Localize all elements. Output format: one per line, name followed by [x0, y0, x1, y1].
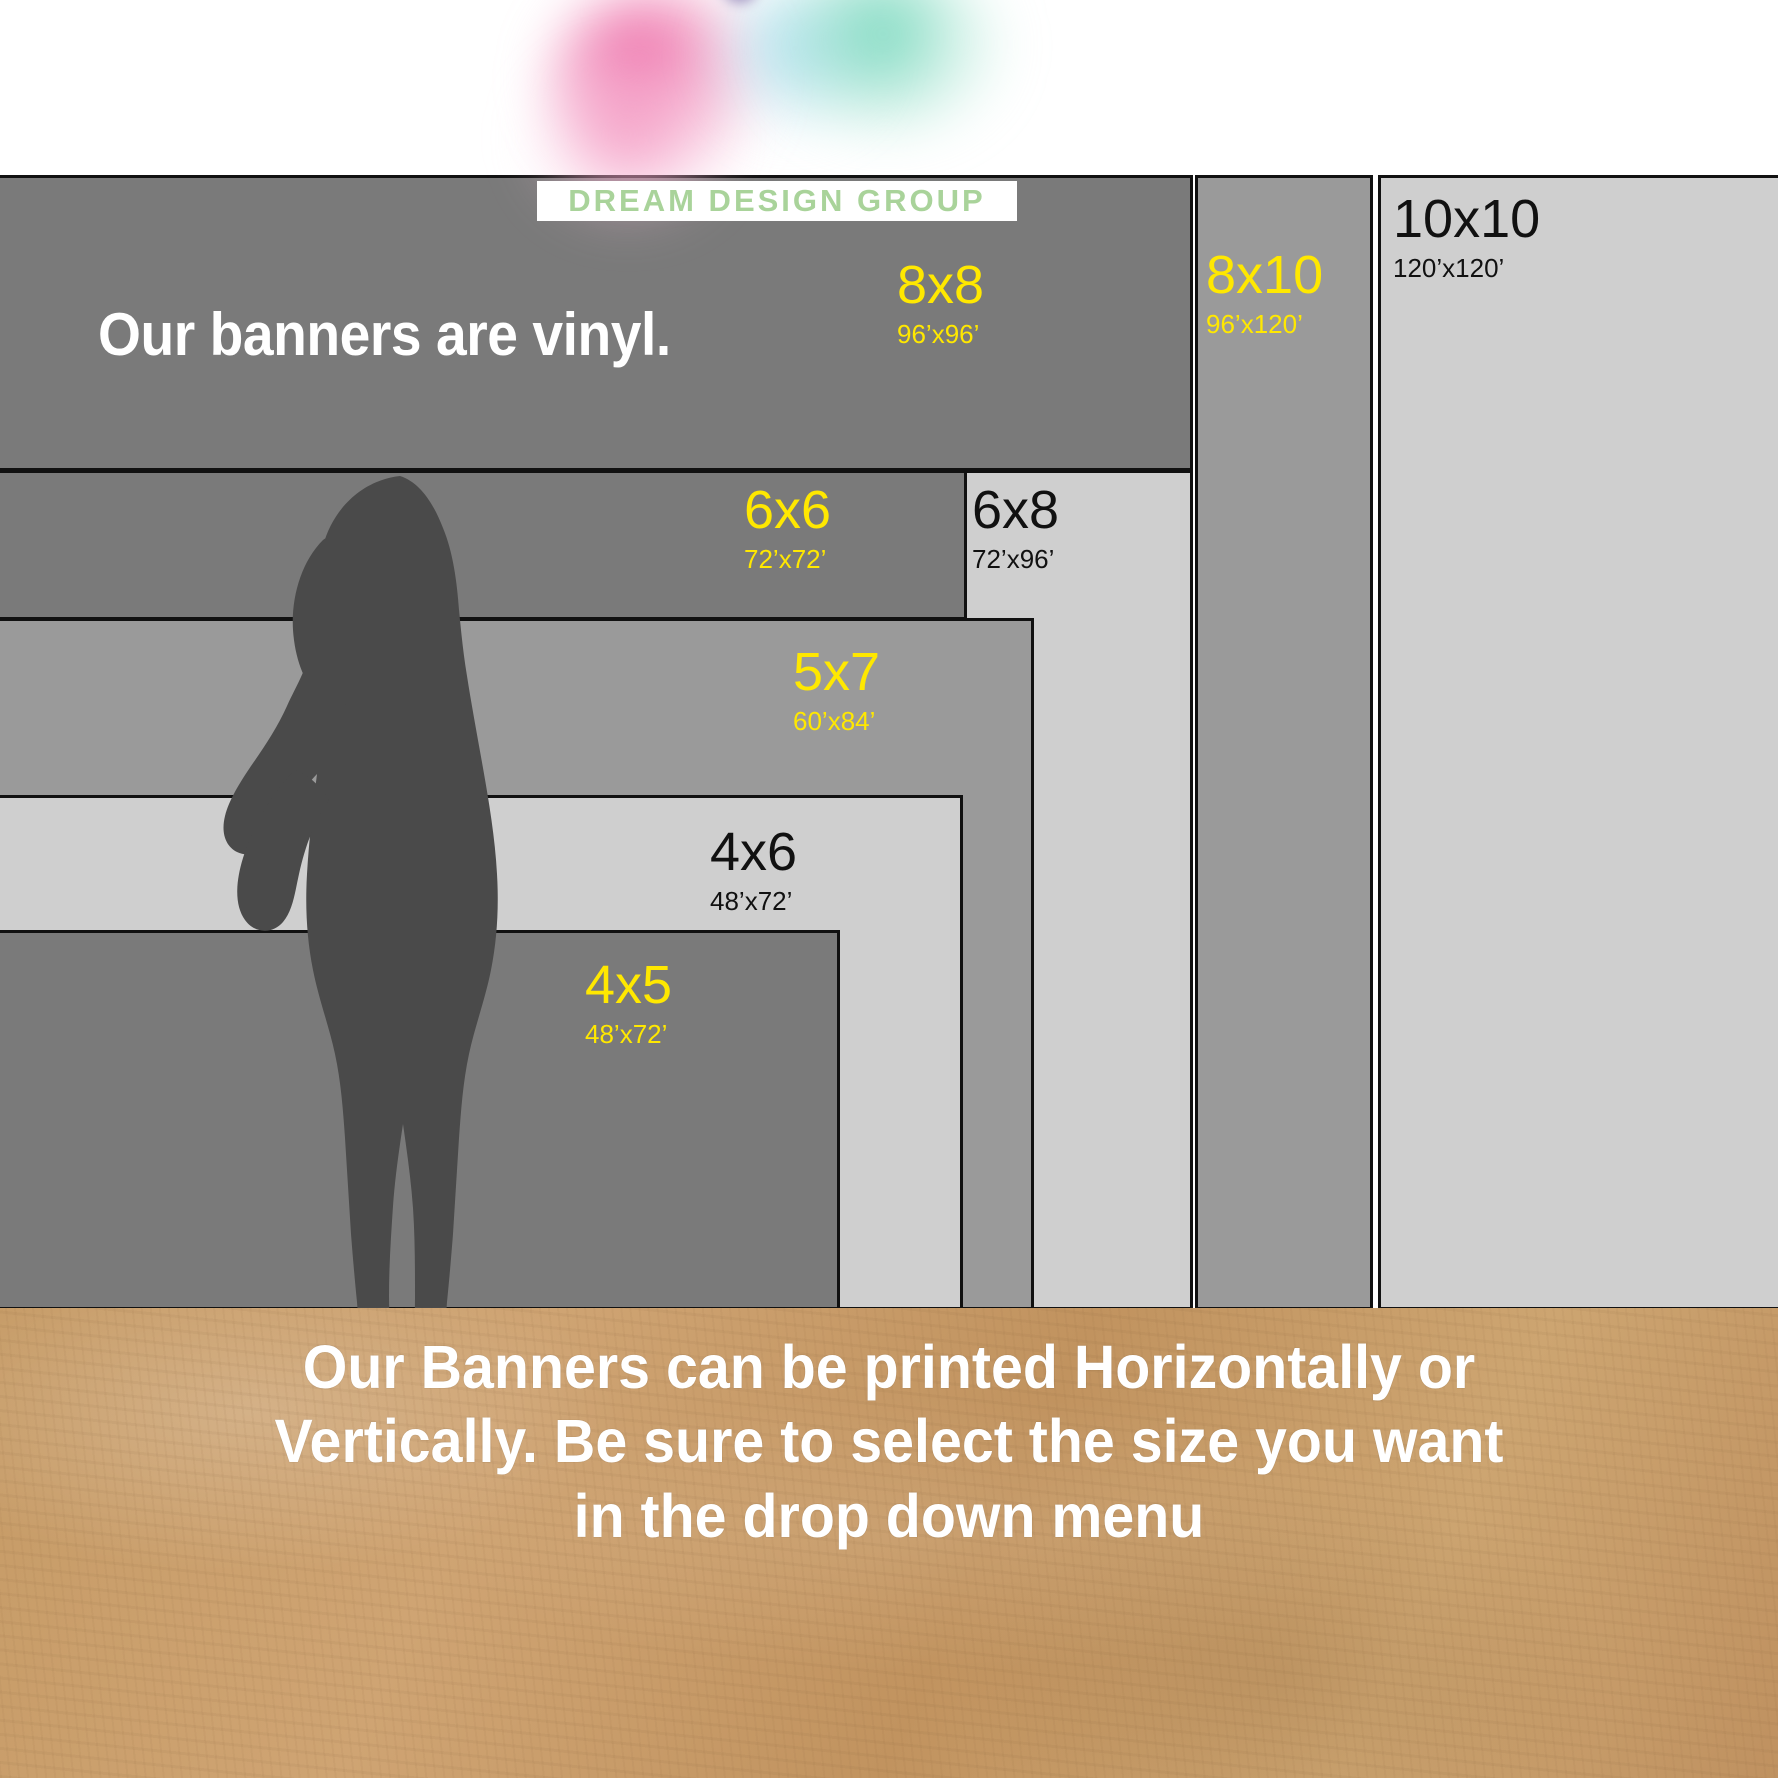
logo-text: DREAM DESIGN GROUP [537, 181, 1017, 221]
size-label-8x10-title: 8x10 [1206, 248, 1323, 302]
size-label-4x5-dims: 48’x72’ [585, 1021, 672, 1047]
size-label-8x8-dims: 96’x96’ [897, 321, 984, 347]
size-label-4x5: 4x5 48’x72’ [585, 958, 672, 1047]
size-label-4x6-title: 4x6 [710, 825, 797, 879]
footer-text: Our Banners can be printed Horizontally … [53, 1308, 1724, 1553]
footer-line-2: Vertically. Be sure to select the size y… [53, 1404, 1724, 1478]
size-label-6x8-dims: 72’x96’ [972, 546, 1059, 572]
size-label-6x6: 6x6 72’x72’ [744, 483, 831, 572]
size-label-8x8-title: 8x8 [897, 258, 984, 312]
woman-silhouette-icon [195, 470, 555, 1370]
size-label-4x6: 4x6 48’x72’ [710, 825, 797, 914]
size-label-4x6-dims: 48’x72’ [710, 888, 797, 914]
banner-rect-8x10[interactable] [1195, 175, 1373, 1310]
size-label-8x8: 8x8 96’x96’ [897, 258, 984, 347]
footer-line-3: in the drop down menu [53, 1479, 1724, 1553]
size-label-6x6-dims: 72’x72’ [744, 546, 831, 572]
size-label-10x10-dims: 120’x120’ [1393, 255, 1540, 281]
page-headline: Our banners are vinyl. [98, 300, 671, 369]
size-label-4x5-title: 4x5 [585, 958, 672, 1012]
size-label-10x10-title: 10x10 [1393, 192, 1540, 246]
size-label-6x8: 6x8 72’x96’ [972, 483, 1059, 572]
size-label-5x7-dims: 60’x84’ [793, 708, 880, 734]
size-label-5x7-title: 5x7 [793, 645, 880, 699]
size-label-10x10: 10x10 120’x120’ [1393, 192, 1540, 281]
size-label-6x6-title: 6x6 [744, 483, 831, 537]
footer-line-1: Our Banners can be printed Horizontally … [53, 1330, 1724, 1404]
banner-rect-10x10[interactable] [1378, 175, 1778, 1310]
footer-banner: Our Banners can be printed Horizontally … [0, 1308, 1778, 1778]
size-label-5x7: 5x7 60’x84’ [793, 645, 880, 734]
size-label-6x8-title: 6x8 [972, 483, 1059, 537]
size-label-8x10: 8x10 96’x120’ [1206, 248, 1323, 337]
size-label-8x10-dims: 96’x120’ [1206, 311, 1323, 337]
banner-size-chart: 8x8 96’x96’ 8x10 96’x120’ 10x10 120’x120… [0, 0, 1778, 1778]
